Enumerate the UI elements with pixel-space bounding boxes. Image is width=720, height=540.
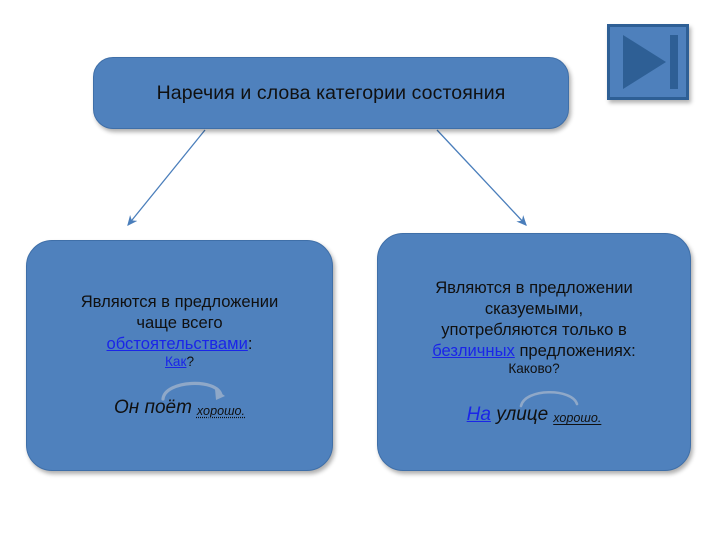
left-example-sentence: Он поётхорошо.	[37, 397, 322, 420]
right-example-sentence: На улицехорошо.	[388, 404, 680, 427]
right-box-body: Являются в предложении сказуемыми, употр…	[378, 277, 690, 427]
title-box: Наречия и слова категории состояния	[93, 57, 569, 129]
right-question-line: Каково?	[388, 361, 680, 378]
page-title: Наречия и слова категории состояния	[143, 82, 520, 104]
left-box-body: Являются в предложении чаще всего обстоя…	[27, 291, 332, 420]
right-term-suffix: предложениях:	[515, 341, 636, 360]
left-content-box: Являются в предложении чаще всего обстоя…	[26, 240, 333, 471]
left-term-suffix: :	[248, 334, 253, 353]
play-to-end-icon	[610, 27, 686, 97]
right-example-preposition[interactable]: На	[467, 404, 491, 425]
link-bezlichnyh[interactable]: безличных	[432, 341, 515, 360]
right-content-box: Являются в предложении сказуемыми, употр…	[377, 233, 691, 471]
right-example-noun: улице	[496, 404, 548, 425]
left-line-1: Являются в предложении	[37, 291, 322, 312]
arrow-to-left-box	[128, 130, 205, 225]
right-term-line: безличных предложениях:	[388, 340, 680, 361]
right-example-adverb: хорошо.	[548, 411, 601, 425]
link-kak[interactable]: Как	[165, 354, 186, 369]
left-line-2: чаще всего	[37, 312, 322, 333]
right-line-3: употребляются только в	[388, 319, 680, 340]
arrow-to-right-box	[437, 130, 526, 225]
left-example-adverb: хорошо.	[192, 404, 245, 418]
left-dependency-arc-row	[37, 371, 322, 397]
slide-canvas: Наречия и слова категории состояния Явля…	[0, 0, 720, 540]
left-question-mark: ?	[186, 354, 194, 369]
right-line-1: Являются в предложении	[388, 277, 680, 298]
play-to-end-button[interactable]	[607, 24, 689, 100]
link-obstoyatelstvami[interactable]: обстоятельствами	[107, 334, 248, 353]
left-example-subject: Он поёт	[114, 397, 192, 418]
right-dependency-arc-row	[388, 378, 680, 404]
left-question-line: Как?	[37, 354, 322, 371]
right-line-2: сказуемыми,	[388, 298, 680, 319]
left-term-line: обстоятельствами:	[37, 333, 322, 354]
